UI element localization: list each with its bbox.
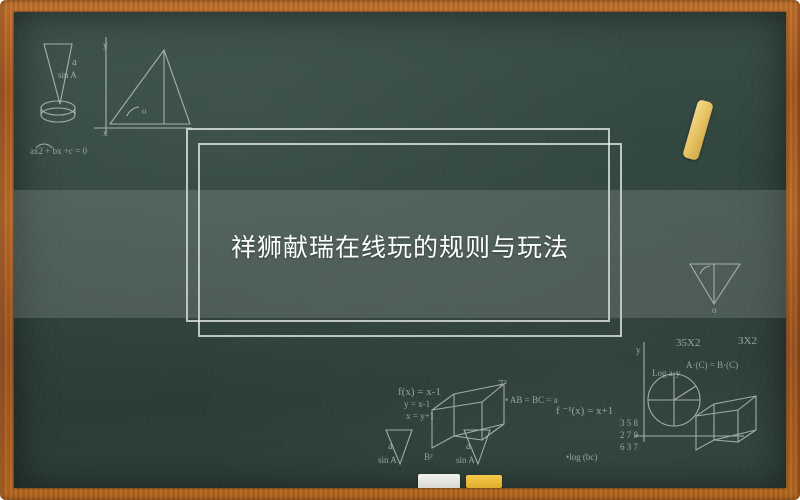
- chalk-note: y: [103, 40, 108, 50]
- chalk-note: 35X2: [676, 337, 700, 349]
- eraser-icon: [418, 474, 460, 488]
- chalk-note: 3 5 8: [620, 418, 638, 428]
- chalkboard-image: a sin A y o x ax2 + bx +c = 0 35X2 3X2 y…: [0, 0, 800, 500]
- chalk-note: x: [103, 128, 108, 138]
- chalk-note: a: [466, 440, 471, 452]
- chalk-note: •log (bc): [566, 452, 597, 462]
- chalk-note: B²: [424, 452, 433, 462]
- chalk-note: • AB = BC = a: [505, 395, 558, 405]
- chalk-note: sin A: [58, 70, 77, 80]
- chalk-note: ax2 + bx +c = 0: [30, 146, 87, 156]
- chalk-note: y = x-1: [404, 399, 430, 409]
- chalk-note: sin A: [378, 455, 397, 465]
- chalk-note: f(x) = x-1: [398, 386, 441, 398]
- chalk-note: y: [636, 345, 641, 355]
- chalk-note: x = y+1: [406, 411, 434, 421]
- chalk-note: 3X2: [738, 335, 757, 347]
- chalk-note: Log a·y: [652, 368, 680, 378]
- chalk-note: o: [712, 305, 717, 315]
- chalk-stick-icon: [682, 99, 714, 161]
- page-title: 祥狮献瑞在线玩的规则与玩法: [0, 228, 800, 264]
- chalk-note: sin A: [456, 455, 475, 465]
- chalk-note: a: [388, 440, 393, 452]
- chalk-piece-icon: [466, 475, 502, 488]
- chalk-note: A·(C) = B·(C): [686, 360, 738, 370]
- chalk-note: f ⁻¹(x) = x+1: [556, 404, 613, 417]
- chalk-note: 7²: [498, 378, 507, 390]
- chalk-note: 2 7 9: [620, 430, 638, 440]
- chalk-note: 6 3 7: [620, 442, 638, 452]
- chalk-note: a: [72, 56, 77, 68]
- chalk-note: o: [142, 106, 147, 116]
